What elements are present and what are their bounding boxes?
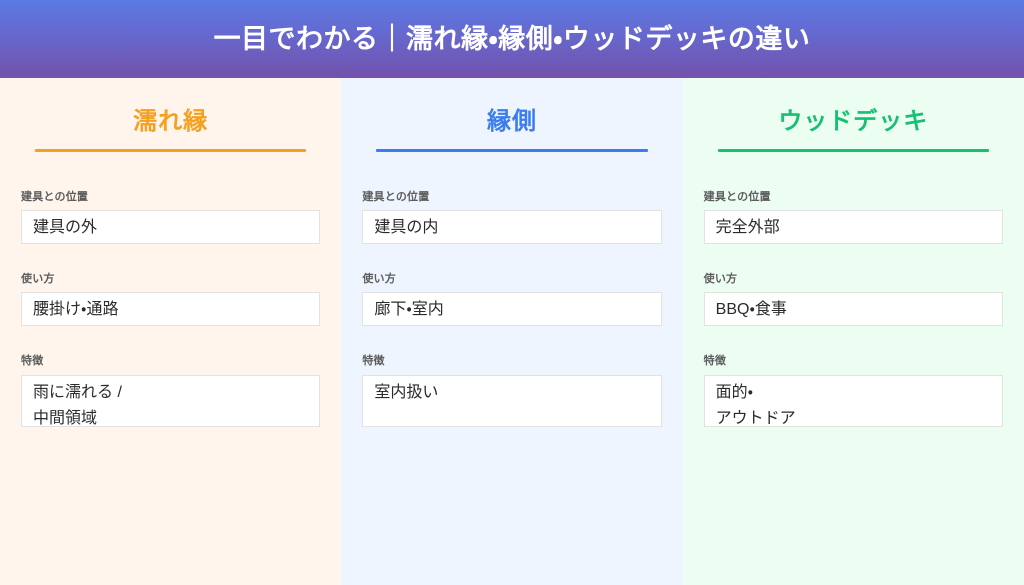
field-row: 特徴 室内扱い	[362, 355, 661, 426]
field-value-box: 雨に濡れる / 中間領域	[21, 375, 320, 427]
field-row: 特徴 雨に濡れる / 中間領域	[21, 355, 320, 426]
comparison-columns: 濡れ縁 建具との位置 建具の外 使い方 腰掛け・通路 特徴	[0, 78, 1024, 585]
field-row: 建具との位置 建具の内	[362, 191, 661, 244]
field-label: 使い方	[362, 273, 661, 286]
comparison-infographic: 一目でわかる｜濡れ縁・縁側・ウッドデッキの違い 濡れ縁 建具との位置 建具の外 …	[0, 0, 1024, 585]
field-value: 完全外部	[716, 211, 1002, 245]
field-value: 廊下・室内	[374, 293, 660, 327]
field-row: 使い方 廊下・室内	[362, 273, 661, 326]
column-heading: 縁側	[362, 78, 661, 134]
column-field-list: 建具との位置 建具の内 使い方 廊下・室内 特徴 室内扱い	[362, 191, 661, 427]
field-value-box: 面的・ アウトドア	[704, 375, 1003, 427]
field-value: 腰掛け・通路	[33, 293, 319, 327]
field-value: 雨に濡れる / 中間領域	[33, 376, 319, 432]
field-value-box: 腰掛け・通路	[21, 292, 320, 326]
field-value: BBQ・食事	[716, 293, 1002, 327]
field-value-box: 完全外部	[704, 210, 1003, 244]
field-label: 建具との位置	[362, 191, 661, 204]
field-row: 使い方 BBQ・食事	[704, 273, 1003, 326]
field-label: 特徴	[704, 355, 1003, 368]
column-heading: ウッドデッキ	[704, 78, 1003, 134]
page-title: 一目でわかる｜濡れ縁・縁側・ウッドデッキの違い	[214, 23, 811, 55]
field-label: 建具との位置	[21, 191, 320, 204]
field-value: 建具の外	[33, 211, 319, 245]
comparison-column-wooddeck: ウッドデッキ 建具との位置 完全外部 使い方 BBQ・食事 特徴	[683, 78, 1024, 585]
field-value: 面的・ アウトドア	[716, 376, 1002, 432]
field-label: 建具との位置	[704, 191, 1003, 204]
field-value-box: BBQ・食事	[704, 292, 1003, 326]
field-row: 建具との位置 完全外部	[704, 191, 1003, 244]
field-row: 建具との位置 建具の外	[21, 191, 320, 244]
column-accent-rule	[35, 149, 306, 152]
field-value-box: 室内扱い	[362, 375, 661, 427]
field-label: 使い方	[21, 273, 320, 286]
column-heading: 濡れ縁	[21, 78, 320, 134]
field-row: 使い方 腰掛け・通路	[21, 273, 320, 326]
field-value: 室内扱い	[374, 376, 660, 406]
field-value: 建具の内	[374, 211, 660, 245]
field-label: 特徴	[362, 355, 661, 368]
column-field-list: 建具との位置 建具の外 使い方 腰掛け・通路 特徴 雨に濡れる / 中間領域	[21, 191, 320, 427]
field-value-box: 建具の外	[21, 210, 320, 244]
field-value-box: 建具の内	[362, 210, 661, 244]
column-field-list: 建具との位置 完全外部 使い方 BBQ・食事 特徴 面的・ アウトドア	[704, 191, 1003, 427]
column-accent-rule	[718, 149, 989, 152]
comparison-column-engawa: 縁側 建具との位置 建具の内 使い方 廊下・室内 特徴	[341, 78, 682, 585]
field-label: 特徴	[21, 355, 320, 368]
field-value-box: 廊下・室内	[362, 292, 661, 326]
page-header: 一目でわかる｜濡れ縁・縁側・ウッドデッキの違い	[0, 0, 1024, 78]
field-row: 特徴 面的・ アウトドア	[704, 355, 1003, 426]
column-accent-rule	[376, 149, 647, 152]
field-label: 使い方	[704, 273, 1003, 286]
comparison-column-nureen: 濡れ縁 建具との位置 建具の外 使い方 腰掛け・通路 特徴	[0, 78, 341, 585]
